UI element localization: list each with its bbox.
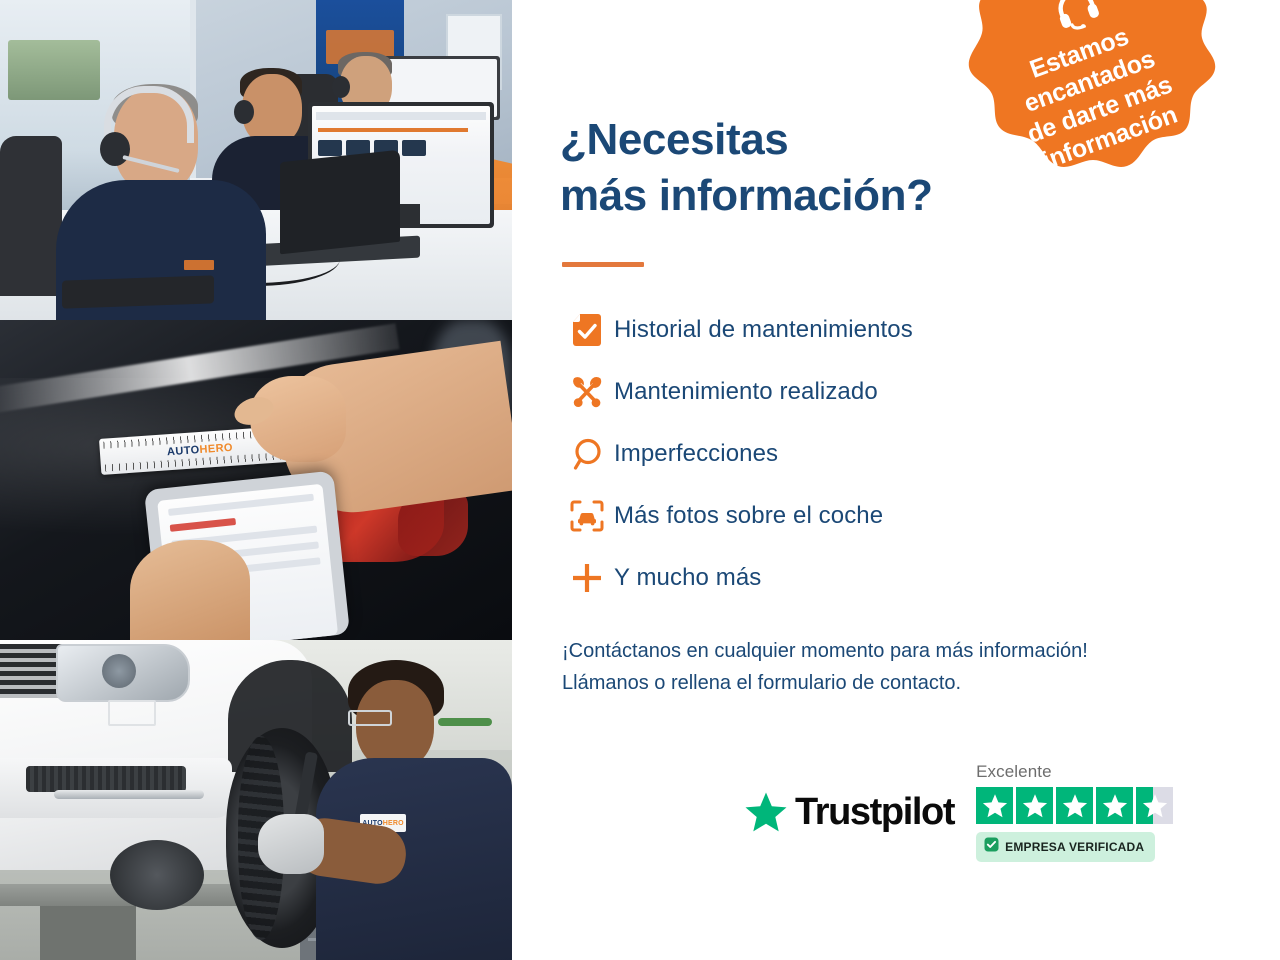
content-panel: ¿Necesitas más información? Historial de… xyxy=(512,0,1280,960)
laptop-screen xyxy=(280,150,400,255)
clipboard-check-icon xyxy=(560,313,614,347)
car-lift-post xyxy=(40,906,136,960)
photo-column: AUTOHERO xyxy=(0,0,512,960)
rating-stars xyxy=(976,787,1173,824)
verified-badge: EMPRESA VERIFICADA xyxy=(976,832,1155,862)
feature-label: Imperfecciones xyxy=(614,440,778,468)
car-frame-icon xyxy=(560,500,614,532)
feature-item-mucho-mas: Y mucho más xyxy=(560,547,1280,609)
verified-label: EMPRESA VERIFICADA xyxy=(1005,840,1144,854)
star-filled xyxy=(1096,787,1133,824)
contact-line2: Llámanos o rellena el formulario de cont… xyxy=(562,672,961,694)
car-air-vent xyxy=(26,766,186,792)
feature-label: Y mucho más xyxy=(614,564,761,592)
feature-label: Historial de mantenimientos xyxy=(614,316,913,344)
feature-item-fotos: Más fotos sobre el coche xyxy=(560,485,1280,547)
star-filled xyxy=(1016,787,1053,824)
license-plate-area xyxy=(108,700,156,726)
tablet-holding-hand xyxy=(130,540,250,640)
chrome-trim xyxy=(54,790,204,799)
support-badge: Estamos encantados de darte más informac… xyxy=(952,0,1220,206)
feature-item-mantenimiento: Mantenimiento realizado xyxy=(560,361,1280,423)
trustpilot-rating: Excelente xyxy=(976,762,1173,862)
page-title: ¿Necesitas más información? xyxy=(560,112,990,225)
feature-list: Historial de mantenimientos M xyxy=(560,299,1280,609)
title-divider xyxy=(562,262,644,267)
page-title-line2: más información? xyxy=(560,171,933,220)
call-center-agents-photo xyxy=(0,0,512,320)
check-badge-icon xyxy=(984,837,999,857)
feature-item-historial: Historial de mantenimientos xyxy=(560,299,1280,361)
plus-icon xyxy=(560,561,614,595)
feature-label: Más fotos sobre el coche xyxy=(614,502,883,530)
car-headlight xyxy=(56,644,190,702)
contact-line1: ¡Contáctanos en cualquier momento para m… xyxy=(562,640,1088,662)
rating-label: Excelente xyxy=(976,762,1173,782)
car-inspection-ruler-photo: AUTOHERO xyxy=(0,320,512,640)
brake-hub xyxy=(110,840,204,910)
garage-wheel-service-photo: AUTOHERO xyxy=(0,640,512,960)
trustpilot-logo[interactable]: Trustpilot xyxy=(744,791,954,834)
star-partial xyxy=(1136,787,1173,824)
mechanic: AUTOHERO xyxy=(312,654,512,960)
star-filled xyxy=(976,787,1013,824)
badge-text: Estamos encantados de darte más informac… xyxy=(975,3,1213,188)
trustpilot-star-icon xyxy=(744,791,788,833)
tools-icon xyxy=(560,375,614,409)
star-filled xyxy=(1056,787,1093,824)
trustpilot-widget[interactable]: Trustpilot Excelente xyxy=(744,762,1173,862)
magnifier-icon xyxy=(560,437,614,471)
feature-label: Mantenimiento realizado xyxy=(614,378,878,406)
feature-item-imperfecciones: Imperfecciones xyxy=(560,423,1280,485)
info-banner: AUTOHERO xyxy=(0,0,1280,960)
contact-text: ¡Contáctanos en cualquier momento para m… xyxy=(562,635,1280,700)
desk-tablet xyxy=(62,275,214,308)
trustpilot-wordmark: Trustpilot xyxy=(795,791,954,834)
office-chair-front xyxy=(0,136,62,296)
page-title-line1: ¿Necesitas xyxy=(560,115,788,164)
